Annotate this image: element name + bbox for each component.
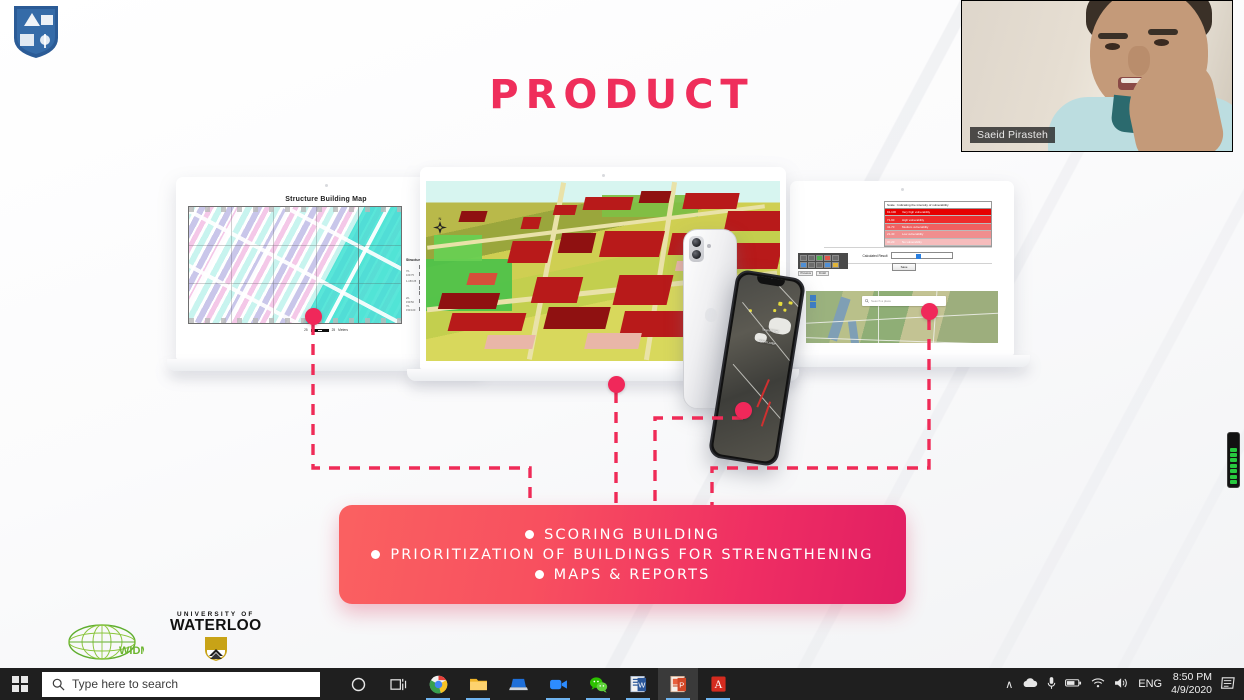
participant-name-label: Saeid Pirasteh — [970, 127, 1055, 143]
feature-item: SCORING BUILDING — [525, 527, 720, 543]
footer-logos: WIDM UNIVERSITY OF WATERLOO — [66, 611, 262, 662]
university-of-waterloo-logo: UNIVERSITY OF WATERLOO — [170, 611, 262, 662]
map-canvas[interactable] — [188, 206, 402, 324]
widm-wordmark: WIDM — [119, 645, 144, 657]
hotspot-left-map[interactable] — [305, 308, 322, 325]
taskbar-remote-desktop-icon[interactable] — [498, 668, 538, 700]
search-icon — [865, 299, 869, 303]
compass-rose-icon: N — [432, 215, 448, 235]
search-placeholder: Type here to search — [72, 677, 178, 691]
map-search-placeholder: Search a place — [871, 299, 891, 303]
bullet-icon — [535, 570, 544, 579]
clock[interactable]: 8:50 PM 4/9/2020 — [1171, 671, 1212, 697]
clock-time: 8:50 PM — [1173, 671, 1212, 684]
phone-brand-logo — [705, 308, 717, 322]
previous-button[interactable]: Previous — [798, 271, 813, 276]
taskbar-zoom-icon[interactable] — [538, 668, 578, 700]
windows-taskbar: Type here to search — [0, 668, 1244, 700]
taskbar-task-view-icon[interactable] — [378, 668, 418, 700]
system-tray: ∧ ENG 8:50 PM 4/9/2020 — [1005, 671, 1244, 697]
feature-label: MAPS & REPORTS — [554, 567, 711, 583]
feature-item: MAPS & REPORTS — [535, 567, 711, 583]
laptop-right-base — [774, 355, 1030, 367]
scale-row: 21-40 Low vulnerability — [885, 231, 991, 238]
map-ticks-top — [189, 207, 401, 212]
windows-logo-icon — [12, 676, 28, 692]
taskbar-file-explorer-icon[interactable] — [458, 668, 498, 700]
bullet-icon — [525, 530, 534, 539]
calculated-result-input[interactable] — [891, 252, 953, 259]
scale-range: 21-40 — [887, 232, 900, 236]
map-toolbar[interactable] — [798, 253, 848, 269]
legend-code: 1-150:25 — [406, 280, 417, 284]
scale-label: No vulnerability — [902, 240, 922, 244]
taskbar-apps: W P A — [338, 668, 738, 700]
phone-flash-icon — [707, 244, 711, 248]
scale-unit: Meters — [338, 328, 348, 332]
microphone-level-meter — [1227, 432, 1240, 488]
hotspot-right-form[interactable] — [921, 303, 938, 320]
scale-row: 91-100 Very high vulnerability — [885, 209, 991, 216]
feature-label: PRIORITIZATION OF BUILDINGS FOR STRENGTH… — [390, 547, 873, 563]
scale-range: 91-100 — [887, 210, 900, 214]
scale-tick: 25 — [332, 328, 336, 332]
scale-range: 00-20 — [887, 240, 900, 244]
calculated-result-label: Calculated Result — [863, 254, 888, 258]
clock-date: 4/9/2020 — [1171, 684, 1212, 697]
scale-label: Medium vulnerability — [902, 225, 928, 229]
scale-row: 41-70 Medium vulnerability — [885, 224, 991, 231]
wizard-nav[interactable]: Previous Finish — [798, 271, 829, 276]
vulnerability-scoring-form: Scale : Indicating the intensity of vuln… — [796, 195, 1008, 347]
feature-item: PRIORITIZATION OF BUILDINGS FOR STRENGTH… — [371, 547, 873, 563]
svg-text:A: A — [714, 679, 723, 691]
legend-code: 76-150:100 — [406, 305, 417, 313]
finish-button[interactable]: Finish — [816, 271, 828, 276]
scale-table-title: Scale : Indicating the intensity of vuln… — [885, 202, 991, 209]
tray-volume-icon[interactable] — [1114, 677, 1129, 692]
laptop-right-screen: Scale : Indicating the intensity of vuln… — [796, 195, 1008, 347]
webcam-person-eye — [1105, 43, 1120, 50]
map-grid — [189, 207, 401, 323]
laptop-right: Scale : Indicating the intensity of vuln… — [790, 181, 1014, 367]
scale-tick: 25 — [304, 328, 308, 332]
scale-range: 71-90 — [887, 218, 900, 222]
laptop-right-lid: Scale : Indicating the intensity of vuln… — [790, 181, 1014, 355]
vulnerability-scale-table: Scale : Indicating the intensity of vuln… — [884, 201, 992, 247]
tray-onedrive-icon[interactable] — [1022, 677, 1038, 691]
scale-range: 41-70 — [887, 225, 900, 229]
tray-show-hidden-icons[interactable]: ∧ — [1005, 678, 1013, 691]
phone-notch — [756, 276, 785, 287]
scale-label: Low vulnerability — [902, 232, 923, 236]
phone-camera-module-icon — [689, 236, 704, 262]
calculated-result-row: Calculated Result — [824, 247, 992, 264]
tray-microphone-icon[interactable] — [1047, 676, 1056, 693]
scale-row: 71-90 High vulnerability — [885, 216, 991, 223]
uw-wordmark: WATERLOO — [170, 618, 262, 634]
widm-logo: WIDM — [66, 616, 144, 662]
taskbar-wechat-icon[interactable] — [578, 668, 618, 700]
scale-label: Very high vulnerability — [902, 210, 930, 214]
webcam-person-brow — [1148, 29, 1178, 35]
scale-label: High vulnerability — [902, 218, 924, 222]
scale-row: 00-20 No vulnerability — [885, 239, 991, 246]
laptop-camera-icon — [901, 188, 904, 191]
tray-battery-icon[interactable] — [1065, 678, 1082, 691]
hotspot-phone-map[interactable] — [735, 402, 752, 419]
map-ticks-bottom — [189, 318, 401, 323]
action-center-icon[interactable] — [1221, 676, 1236, 693]
save-button[interactable]: Save — [892, 263, 916, 271]
hotspot-center-3d[interactable] — [608, 376, 625, 393]
start-button[interactable] — [0, 668, 40, 700]
search-icon — [52, 678, 65, 691]
webcam-person-brow — [1098, 33, 1128, 39]
webcam-person-eye — [1154, 39, 1169, 46]
svg-text:N: N — [439, 216, 442, 221]
search-input[interactable]: Type here to search — [42, 672, 320, 697]
svg-text:P: P — [679, 680, 684, 689]
university-crest-logo — [10, 4, 62, 60]
location-map[interactable]: Search a place — [806, 291, 998, 343]
uw-shield-icon — [203, 636, 229, 662]
taskbar-chrome-icon[interactable] — [418, 668, 458, 700]
svg-text:W: W — [638, 680, 646, 689]
feature-label: SCORING BUILDING — [544, 527, 720, 543]
legend-code: 26-150:50 — [406, 297, 417, 305]
taskbar-word-icon[interactable]: W — [618, 668, 658, 700]
taskbar-powerpoint-icon[interactable]: P — [658, 668, 698, 700]
map-zoom-controls[interactable] — [810, 295, 816, 309]
product-features-banner: SCORING BUILDING PRIORITIZATION OF BUILD… — [339, 505, 906, 604]
taskbar-acrobat-icon[interactable]: A — [698, 668, 738, 700]
laptop-camera-icon — [602, 174, 605, 177]
laptop-camera-icon — [325, 184, 328, 187]
video-participant-tile[interactable]: Saeid Pirasteh — [961, 0, 1233, 152]
legend-code: 76-100:75 — [406, 270, 417, 278]
screen-root: PRODUCT Structure Building Map — [0, 0, 1244, 700]
language-indicator[interactable]: ENG — [1138, 678, 1162, 690]
bullet-icon — [371, 550, 380, 559]
tray-wifi-icon[interactable] — [1091, 677, 1105, 691]
taskbar-cortana-icon[interactable] — [338, 668, 378, 700]
